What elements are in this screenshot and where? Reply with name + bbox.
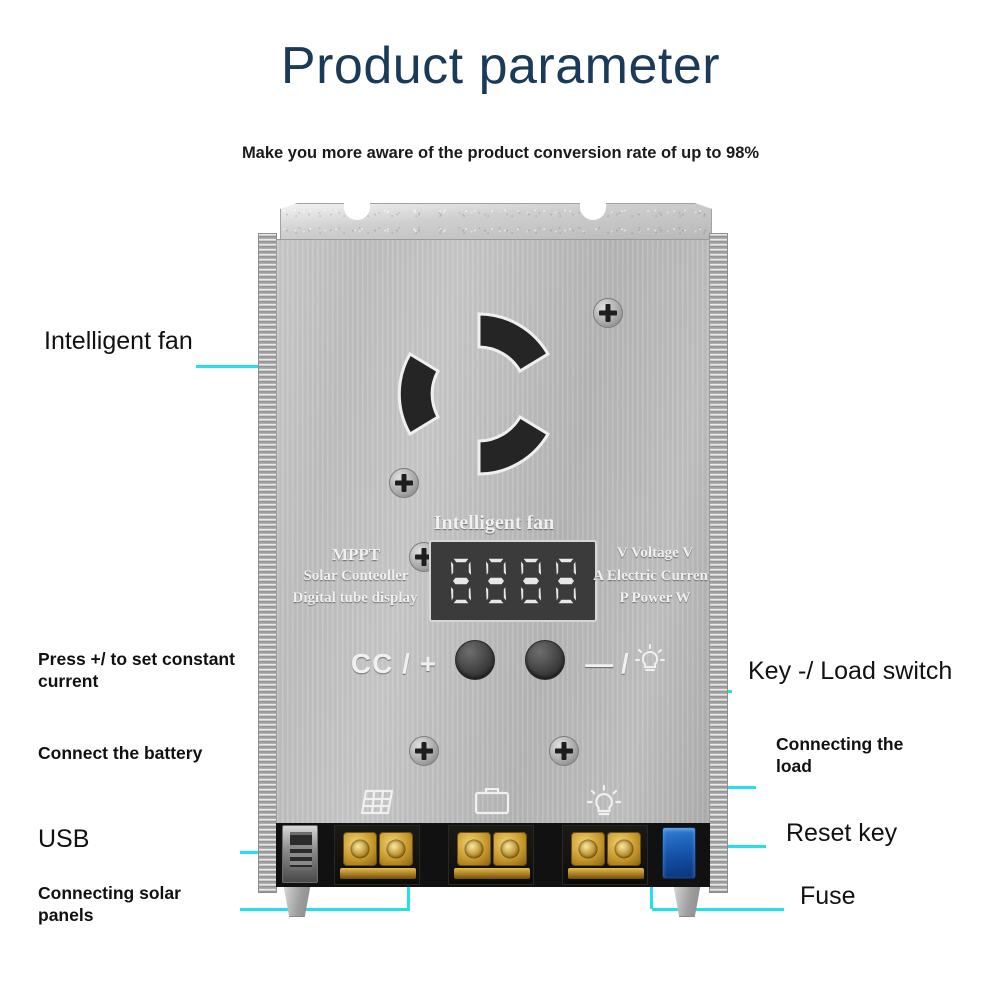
terminal-screw-solar-minus[interactable] <box>379 832 413 866</box>
heatsink-rail-left <box>258 233 277 893</box>
fan-vent-icon <box>381 296 577 492</box>
terminal-bar-load <box>568 868 644 879</box>
fuse[interactable] <box>662 827 696 879</box>
callout-connecting-the-load: Connecting the load <box>776 733 936 778</box>
silkscreen-power: P Power W <box>599 590 710 607</box>
callout-press-plus: Press +/ to set constant current <box>38 648 258 693</box>
terminal-screw-battery-minus[interactable] <box>493 832 527 866</box>
button-cc-plus[interactable] <box>455 640 495 680</box>
button-minus-load[interactable] <box>525 640 565 680</box>
silkscreen-digital-tube-display: Digital tube display <box>277 590 433 607</box>
heatsink-rail-right <box>709 233 728 893</box>
silkscreen-mppt: MPPT <box>283 545 429 565</box>
screw-bottom-left <box>409 736 439 766</box>
solar-panel-icon <box>359 788 395 818</box>
page-subtitle: Make you more aware of the product conve… <box>0 144 1001 163</box>
page-title: Product parameter <box>0 36 1001 96</box>
display-digit-4 <box>550 554 582 608</box>
display-digit-2 <box>480 554 512 608</box>
screw-bottom-right <box>549 736 579 766</box>
silkscreen-solar-controller: Solar Conteoller <box>283 568 429 585</box>
terminal-block-battery[interactable] <box>448 825 534 885</box>
callout-connect-battery: Connect the battery <box>38 742 268 764</box>
terminal-block-load[interactable] <box>562 825 648 885</box>
terminal-screw-solar-plus[interactable] <box>343 832 377 866</box>
silkscreen-voltage: V Voltage V <box>599 545 710 562</box>
silkscreen-electric-current: A Electric Current <box>591 568 710 585</box>
callout-reset-key: Reset key <box>786 817 897 849</box>
callout-key-load-switch: Key -/ Load switch <box>748 655 952 687</box>
display-digit-1 <box>445 554 477 608</box>
battery-icon <box>473 788 511 818</box>
callout-usb: USB <box>38 823 89 855</box>
product-parameter-diagram: Product parameter Make you more aware of… <box>0 0 1001 1001</box>
terminal-bar-solar <box>340 868 416 879</box>
terminal-block-solar[interactable] <box>334 825 420 885</box>
button-label-minus: — / <box>573 648 641 680</box>
mppt-solar-controller-device: Intelligent fan Digital tube <box>258 203 728 915</box>
terminal-bar-battery <box>454 868 530 879</box>
display-digit-3 <box>515 554 547 608</box>
lamp-icon-button <box>635 644 665 678</box>
terminal-screw-battery-plus[interactable] <box>457 832 491 866</box>
screw-top-right <box>593 298 623 328</box>
button-label-cc-plus: CC / + <box>339 648 449 680</box>
lamp-icon-terminal <box>587 785 621 819</box>
seven-segment-display <box>429 540 597 622</box>
callout-intelligent-fan: Intelligent fan <box>44 325 193 357</box>
callout-connecting-solar-panels: Connecting solar panels <box>38 882 218 927</box>
screw-mid-left <box>389 468 419 498</box>
terminal-screw-load-minus[interactable] <box>607 832 641 866</box>
terminal-screw-load-plus[interactable] <box>571 832 605 866</box>
terminal-block-strip <box>276 823 710 887</box>
callout-fuse: Fuse <box>800 880 856 912</box>
device-faceplate: Intelligent fan Digital tube <box>276 239 710 887</box>
usb-port[interactable] <box>282 825 318 883</box>
silkscreen-fan-label: Intelligent fan <box>277 512 710 535</box>
